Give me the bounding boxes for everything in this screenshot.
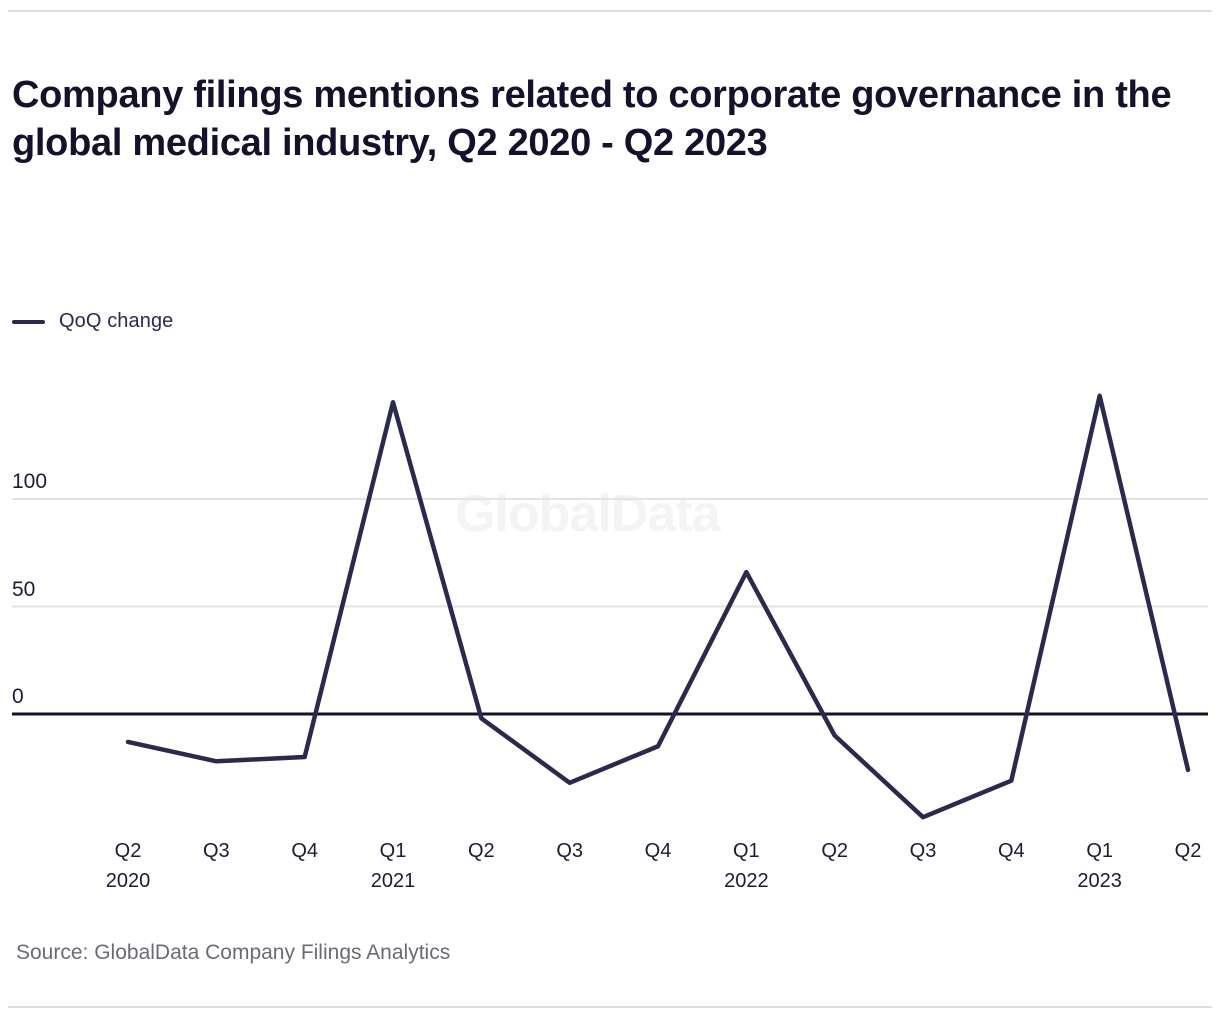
x-tick-year: 2021 (371, 866, 416, 896)
x-tick-year: 2020 (106, 866, 151, 896)
x-tick-quarter: Q3 (203, 840, 230, 862)
x-tick-label: Q12022 (724, 836, 769, 896)
x-tick-quarter: Q2 (821, 840, 848, 862)
x-tick-year: 2023 (1077, 866, 1122, 896)
x-tick-label: Q2 (821, 836, 848, 866)
x-tick-quarter: Q4 (291, 840, 318, 862)
gridlines (12, 499, 1208, 714)
x-tick-quarter: Q2 (1175, 840, 1202, 862)
y-tick-label: 50 (12, 578, 35, 602)
x-tick-quarter: Q1 (380, 840, 407, 862)
x-tick-label: Q2 (468, 836, 495, 866)
x-tick-label: Q3 (910, 836, 937, 866)
x-tick-quarter: Q2 (468, 840, 495, 862)
x-tick-label: Q2 (1175, 836, 1202, 866)
x-tick-label: Q22020 (106, 836, 151, 896)
x-tick-quarter: Q2 (115, 840, 142, 862)
x-tick-label: Q4 (291, 836, 318, 866)
chart-page: Company filings mentions related to corp… (0, 0, 1220, 1020)
x-tick-quarter: Q3 (910, 840, 937, 862)
x-tick-label: Q4 (998, 836, 1025, 866)
x-tick-year: 2022 (724, 866, 769, 896)
x-tick-quarter: Q4 (998, 840, 1025, 862)
x-tick-label: Q12023 (1077, 836, 1122, 896)
x-tick-quarter: Q4 (645, 840, 672, 862)
x-tick-label: Q3 (203, 836, 230, 866)
x-tick-label: Q12021 (371, 836, 416, 896)
y-tick-label: 100 (12, 470, 47, 494)
source-note: Source: GlobalData Company Filings Analy… (16, 941, 450, 965)
x-tick-label: Q3 (556, 836, 583, 866)
x-tick-label: Q4 (645, 836, 672, 866)
line-chart-plot (0, 0, 1220, 1020)
x-tick-quarter: Q3 (556, 840, 583, 862)
x-tick-quarter: Q1 (1086, 840, 1113, 862)
x-tick-quarter: Q1 (733, 840, 760, 862)
bottom-divider (8, 1006, 1212, 1008)
y-tick-label: 0 (12, 685, 24, 709)
